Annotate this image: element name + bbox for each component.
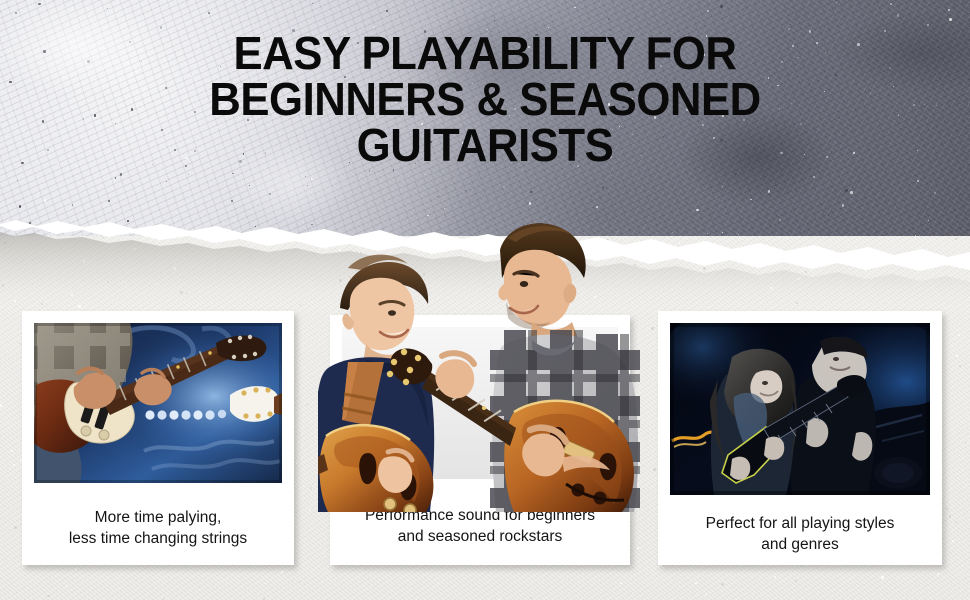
headline-line-2: BEGINNERS & SEASONED <box>24 76 946 122</box>
card-3-photo <box>670 323 930 495</box>
electric-guitar-stratocaster-stage-photo <box>34 323 282 483</box>
card-3-caption-line-2: and genres <box>658 534 942 555</box>
promo-banner: EASY PLAYABILITY FOR BEGINNERS & SEASONE… <box>0 0 970 600</box>
card-2-caption-line-2: and seasoned rockstars <box>330 526 630 547</box>
torn-paper-divider <box>0 196 970 306</box>
card-2-caption: Performance sound for beginners and seas… <box>330 505 630 547</box>
headline-line-3: GUITARISTS <box>24 122 946 168</box>
card-2-caption-line-1: Performance sound for beginners <box>330 505 630 526</box>
feature-card-2: Performance sound for beginners and seas… <box>330 315 630 565</box>
headline-line-1: EASY PLAYABILITY FOR <box>24 30 946 76</box>
boy-and-man-playing-guitars-photo <box>342 327 618 479</box>
card-1-photo <box>34 323 282 483</box>
metal-band-live-concert-photo <box>670 323 930 495</box>
feature-card-1: More time palying, less time changing st… <box>22 311 294 565</box>
card-2-photo <box>342 327 618 479</box>
card-1-caption-line-1: More time palying, <box>22 507 294 528</box>
card-3-caption: Perfect for all playing styles and genre… <box>658 513 942 555</box>
card-1-caption-line-2: less time changing strings <box>22 528 294 549</box>
headline: EASY PLAYABILITY FOR BEGINNERS & SEASONE… <box>24 30 946 168</box>
card-3-caption-line-1: Perfect for all playing styles <box>658 513 942 534</box>
feature-card-3: Perfect for all playing styles and genre… <box>658 311 942 565</box>
card-1-caption: More time palying, less time changing st… <box>22 507 294 549</box>
